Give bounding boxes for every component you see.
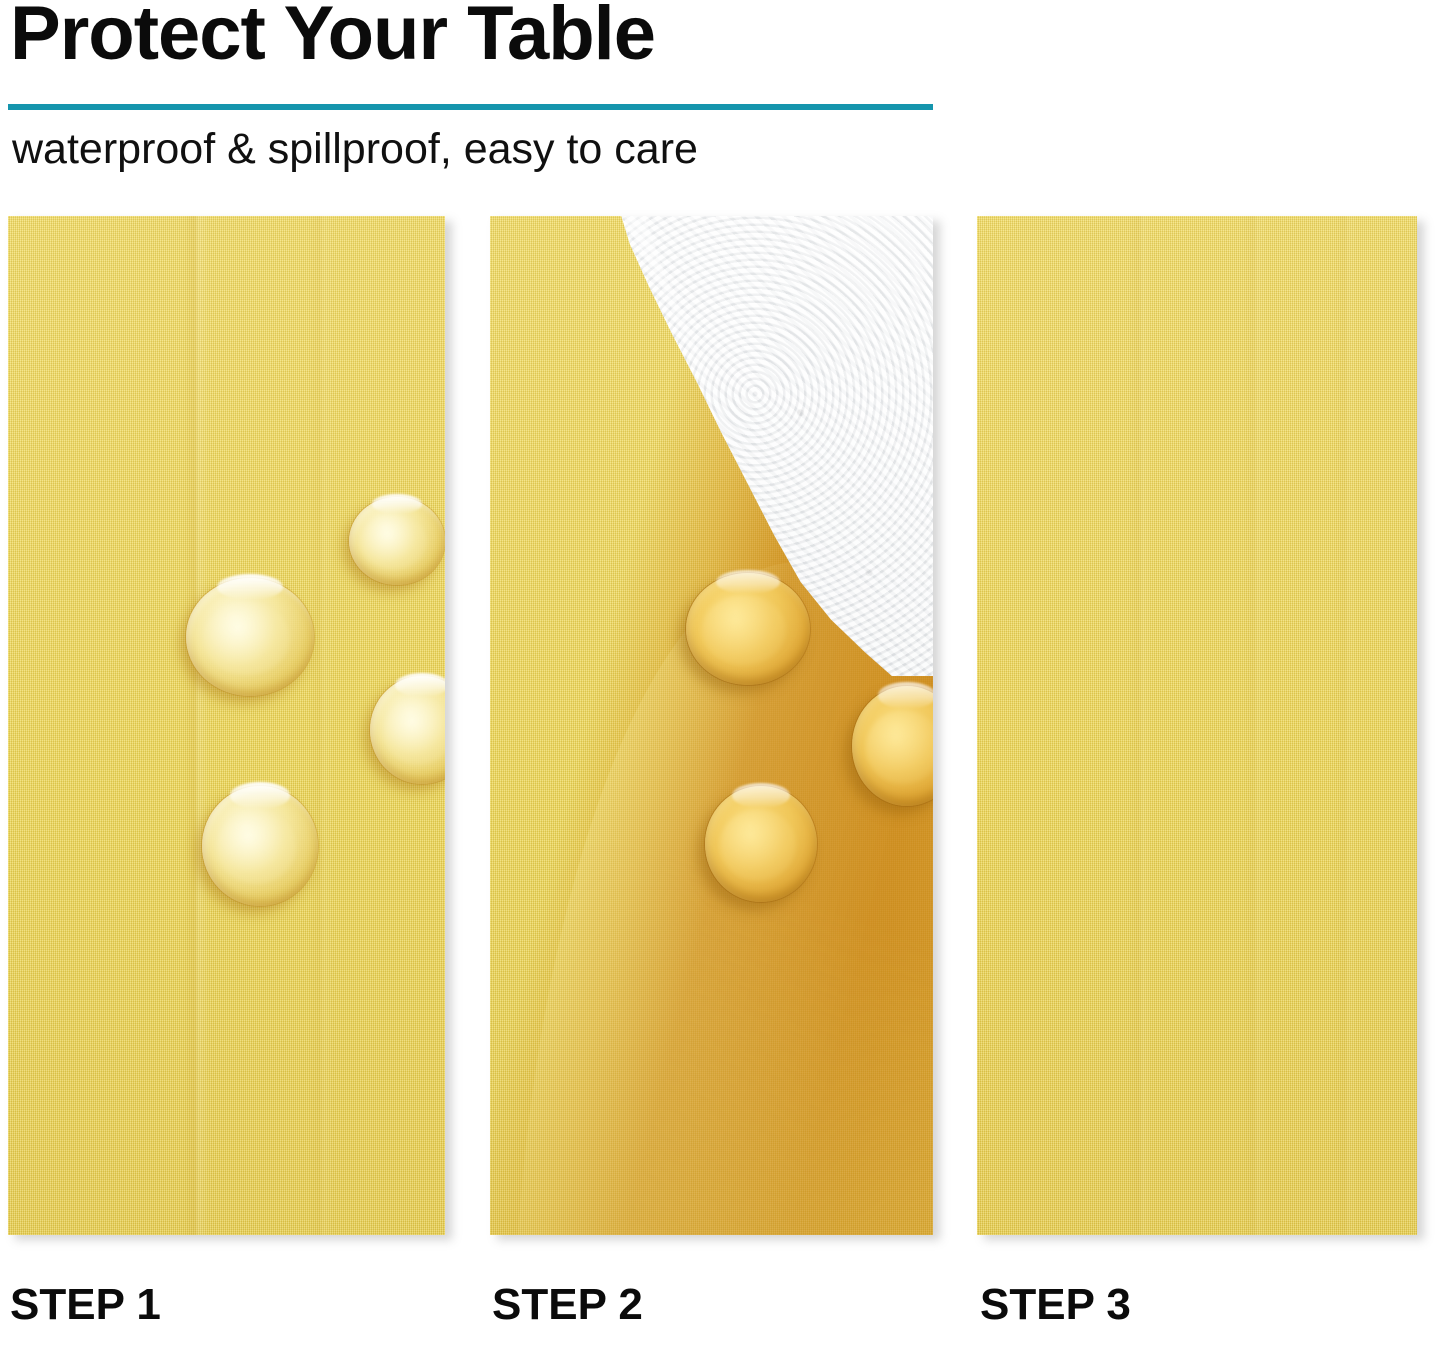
water-droplet	[202, 786, 318, 906]
fabric-crease	[308, 216, 334, 1235]
water-droplet	[686, 573, 810, 685]
fabric-crease	[1242, 216, 1268, 1235]
page-subtitle: waterproof & spillproof, easy to care	[12, 124, 698, 175]
water-droplet	[349, 497, 445, 585]
step-1-image	[8, 216, 445, 1235]
step-2-label: STEP 2	[492, 1280, 643, 1330]
title-divider	[8, 104, 933, 110]
page-title: Protect Your Table	[10, 0, 655, 72]
step-3-image	[977, 216, 1417, 1235]
fabric-crease	[1127, 216, 1153, 1235]
step-1-label: STEP 1	[10, 1280, 161, 1330]
infographic-page: Protect Your Table waterproof & spillpro…	[0, 0, 1445, 1345]
fabric-crease	[183, 216, 209, 1235]
water-droplet	[705, 786, 817, 902]
step-2-image	[490, 216, 933, 1235]
water-droplet	[186, 578, 314, 696]
fabric-crease	[1333, 216, 1359, 1235]
step-3-label: STEP 3	[980, 1280, 1131, 1330]
